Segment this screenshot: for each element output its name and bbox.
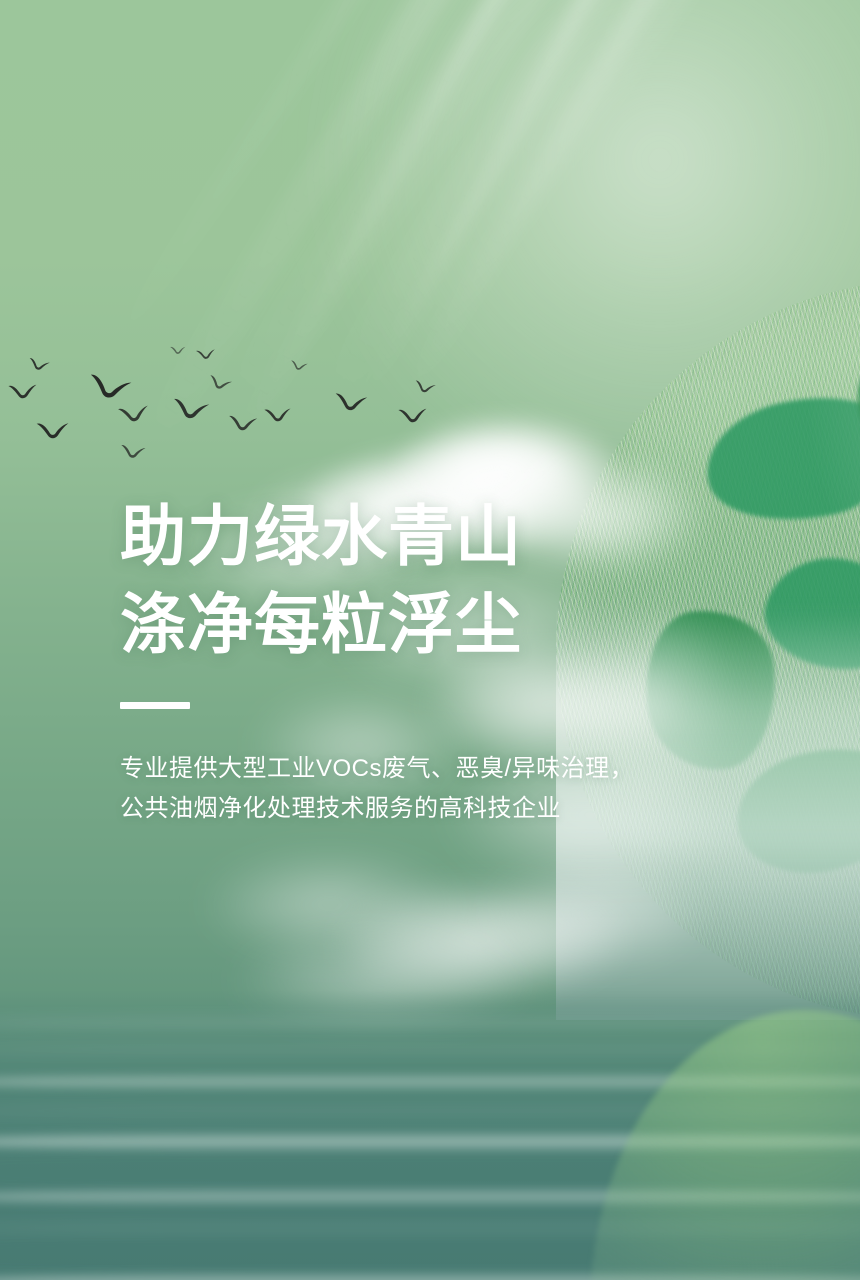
globe-reflection-texture [590, 1010, 860, 1280]
bird-icon [35, 419, 70, 441]
bird-icon [86, 369, 134, 405]
bird-icon [7, 380, 39, 401]
sky-haze [310, 0, 860, 520]
sun-ray [374, 0, 860, 440]
water-wave [0, 1074, 860, 1090]
bird-icon [397, 404, 429, 425]
continent-shape [696, 382, 860, 539]
continent-shape [847, 325, 860, 506]
bird-icon [195, 347, 216, 362]
water-wave [0, 1222, 860, 1234]
bird-icon [263, 405, 293, 425]
subtitle-line-1: 专业提供大型工业VOCs废气、恶臭/异味治理， [120, 749, 720, 789]
bird-icon [170, 344, 187, 355]
continent-shape [754, 541, 860, 688]
bird-icon [228, 413, 259, 432]
bird-icon [289, 359, 308, 372]
cloud [230, 930, 530, 1030]
cloud [200, 850, 460, 960]
sun-ray [357, 0, 860, 390]
sun-ray [70, 0, 612, 405]
sun-ray [182, 0, 792, 472]
bird-icon [171, 396, 211, 422]
cloud [330, 880, 630, 1000]
water-wave [0, 1188, 860, 1206]
bird-icon [413, 378, 437, 396]
water-wave [0, 1166, 860, 1178]
bird-icon [27, 356, 51, 373]
headline-block: 助力绿水青山 涤净每粒浮尘 专业提供大型工业VOCs废气、恶臭/异味治理， 公共… [120, 492, 720, 829]
headline-line-2: 涤净每粒浮尘 [120, 580, 720, 668]
sun-ray [212, 0, 721, 481]
sun-ray [285, 0, 852, 453]
water-wave [0, 1044, 860, 1054]
banner-canvas: 助力绿水青山 涤净每粒浮尘 专业提供大型工业VOCs废气、恶臭/异味治理， 公共… [0, 0, 860, 1280]
bird-icon [120, 443, 147, 460]
bird-icon [333, 391, 368, 413]
water-wave [0, 1132, 860, 1152]
water-wave [0, 1106, 860, 1116]
bird-icon [207, 373, 234, 392]
water-wave [0, 1246, 860, 1262]
water-wave [0, 1272, 860, 1280]
bird-icon [117, 401, 152, 425]
sun-ray [110, 0, 679, 494]
headline-line-1: 助力绿水青山 [120, 492, 720, 580]
cloud [480, 860, 710, 970]
continent-shape [724, 730, 860, 890]
globe-reflection [590, 1010, 860, 1280]
water-wave [0, 1016, 860, 1030]
subtitle-line-2: 公共油烟净化处理技术服务的高科技企业 [120, 789, 720, 829]
sun-ray [335, 0, 801, 445]
headline-divider [120, 702, 190, 709]
water-surface [0, 990, 860, 1280]
